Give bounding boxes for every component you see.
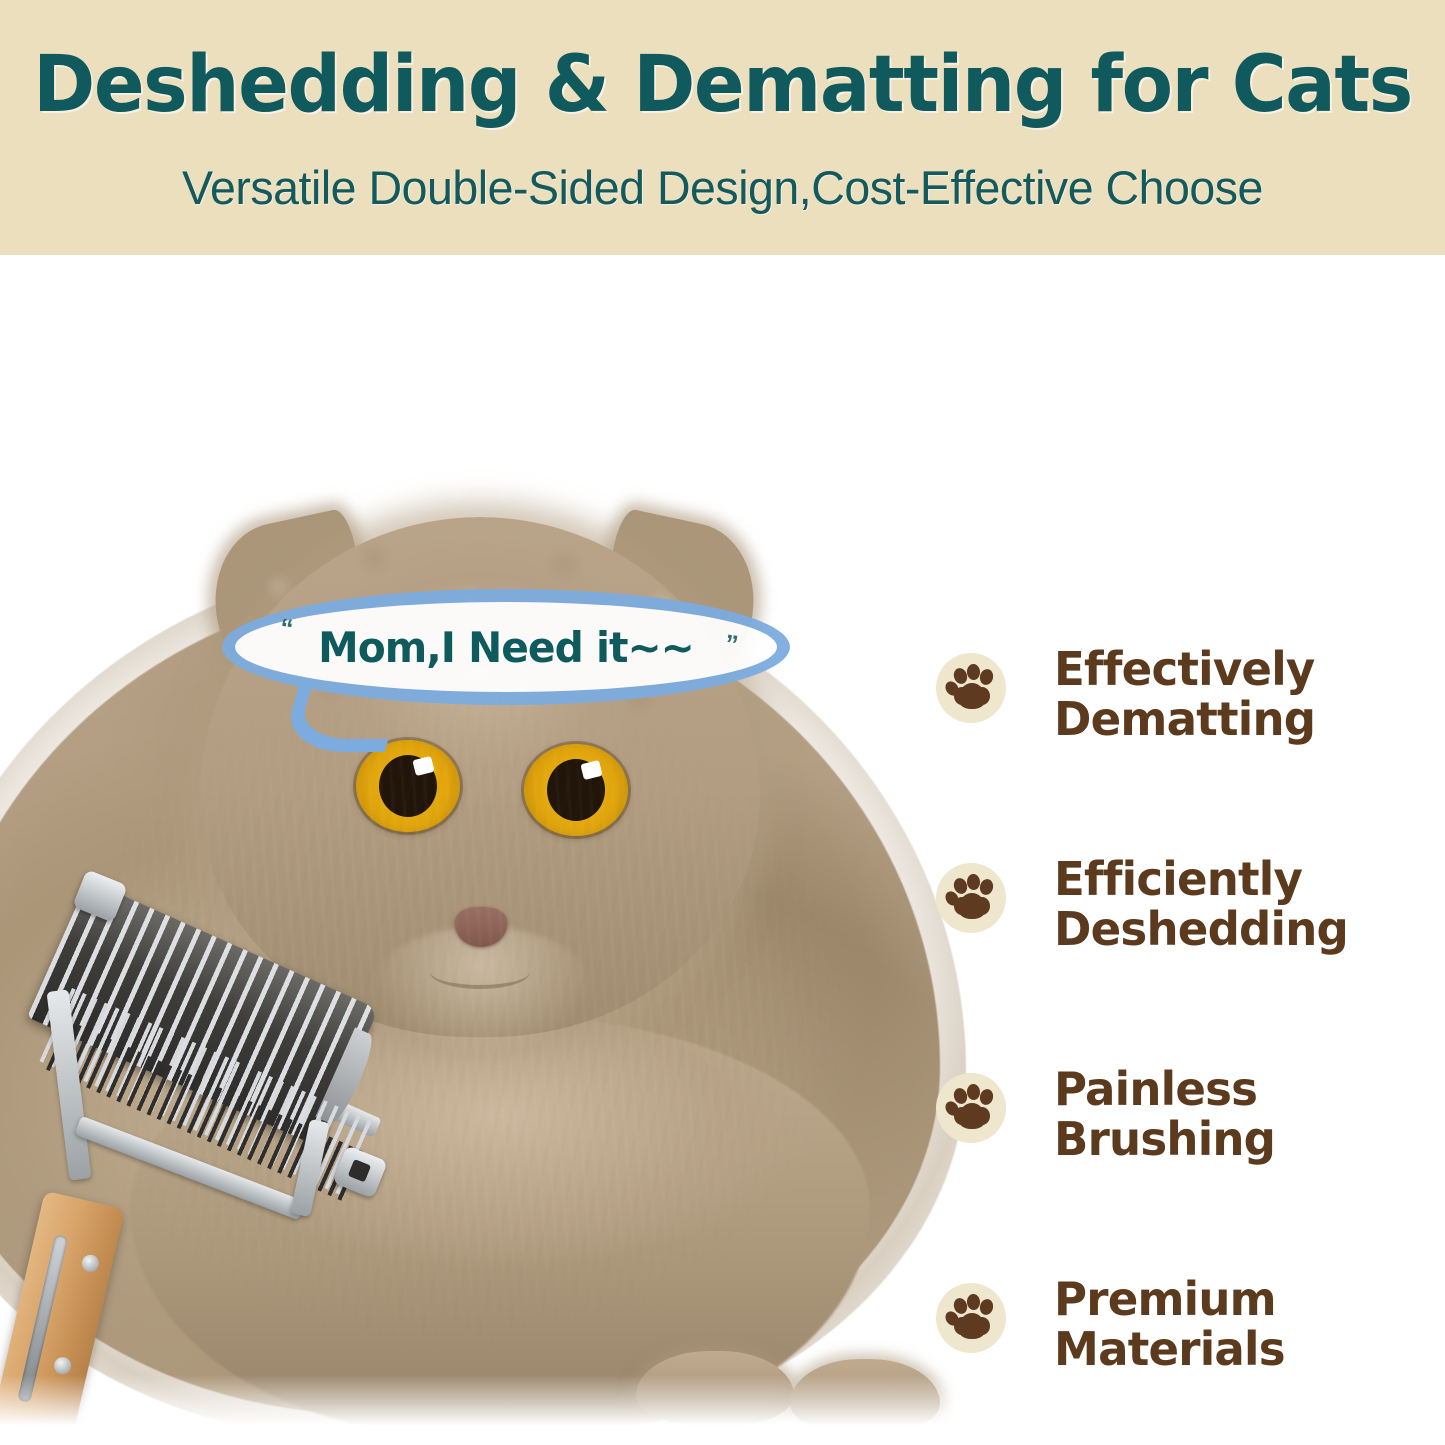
grooming-rake-product xyxy=(20,870,440,1445)
bottom-white-fade xyxy=(0,1375,1445,1445)
page-title: Deshedding & Dematting for Cats xyxy=(29,40,1416,130)
feature-item-painless-brushing: Painless Brushing xyxy=(936,1065,1280,1164)
handle-rivet xyxy=(80,1253,100,1273)
feature-item-dematting: Effectively Dematting xyxy=(936,645,1321,744)
feature-label: Premium Materials xyxy=(1054,1275,1285,1374)
feature-item-deshedding: Efficiently Deshedding xyxy=(936,855,1354,954)
feature-label: Efficiently Deshedding xyxy=(1054,855,1348,954)
product-photo-stage: “ ” Mom,I Need it~~ FelineFun ELEVATING … xyxy=(0,255,1445,1445)
page-subtitle: Versatile Double-Sided Design,Cost-Effec… xyxy=(7,160,1438,215)
header-band: Deshedding & Dematting for Cats Versatil… xyxy=(0,0,1445,255)
handle-rivet xyxy=(52,1356,72,1376)
feature-label: Effectively Dematting xyxy=(1054,645,1315,744)
speech-bubble-text: Mom,I Need it~~ xyxy=(231,589,782,705)
feature-item-premium-materials: Premium Materials xyxy=(936,1275,1289,1374)
feature-label: Painless Brushing xyxy=(1054,1065,1275,1164)
paw-icon xyxy=(936,863,1006,933)
speech-bubble: “ ” Mom,I Need it~~ xyxy=(222,589,790,705)
right-white-fade xyxy=(1015,255,1445,1445)
product-marketing-image: Deshedding & Dematting for Cats Versatil… xyxy=(0,0,1445,1445)
paw-icon xyxy=(936,1283,1006,1353)
paw-icon xyxy=(936,1073,1006,1143)
paw-icon xyxy=(936,653,1006,723)
